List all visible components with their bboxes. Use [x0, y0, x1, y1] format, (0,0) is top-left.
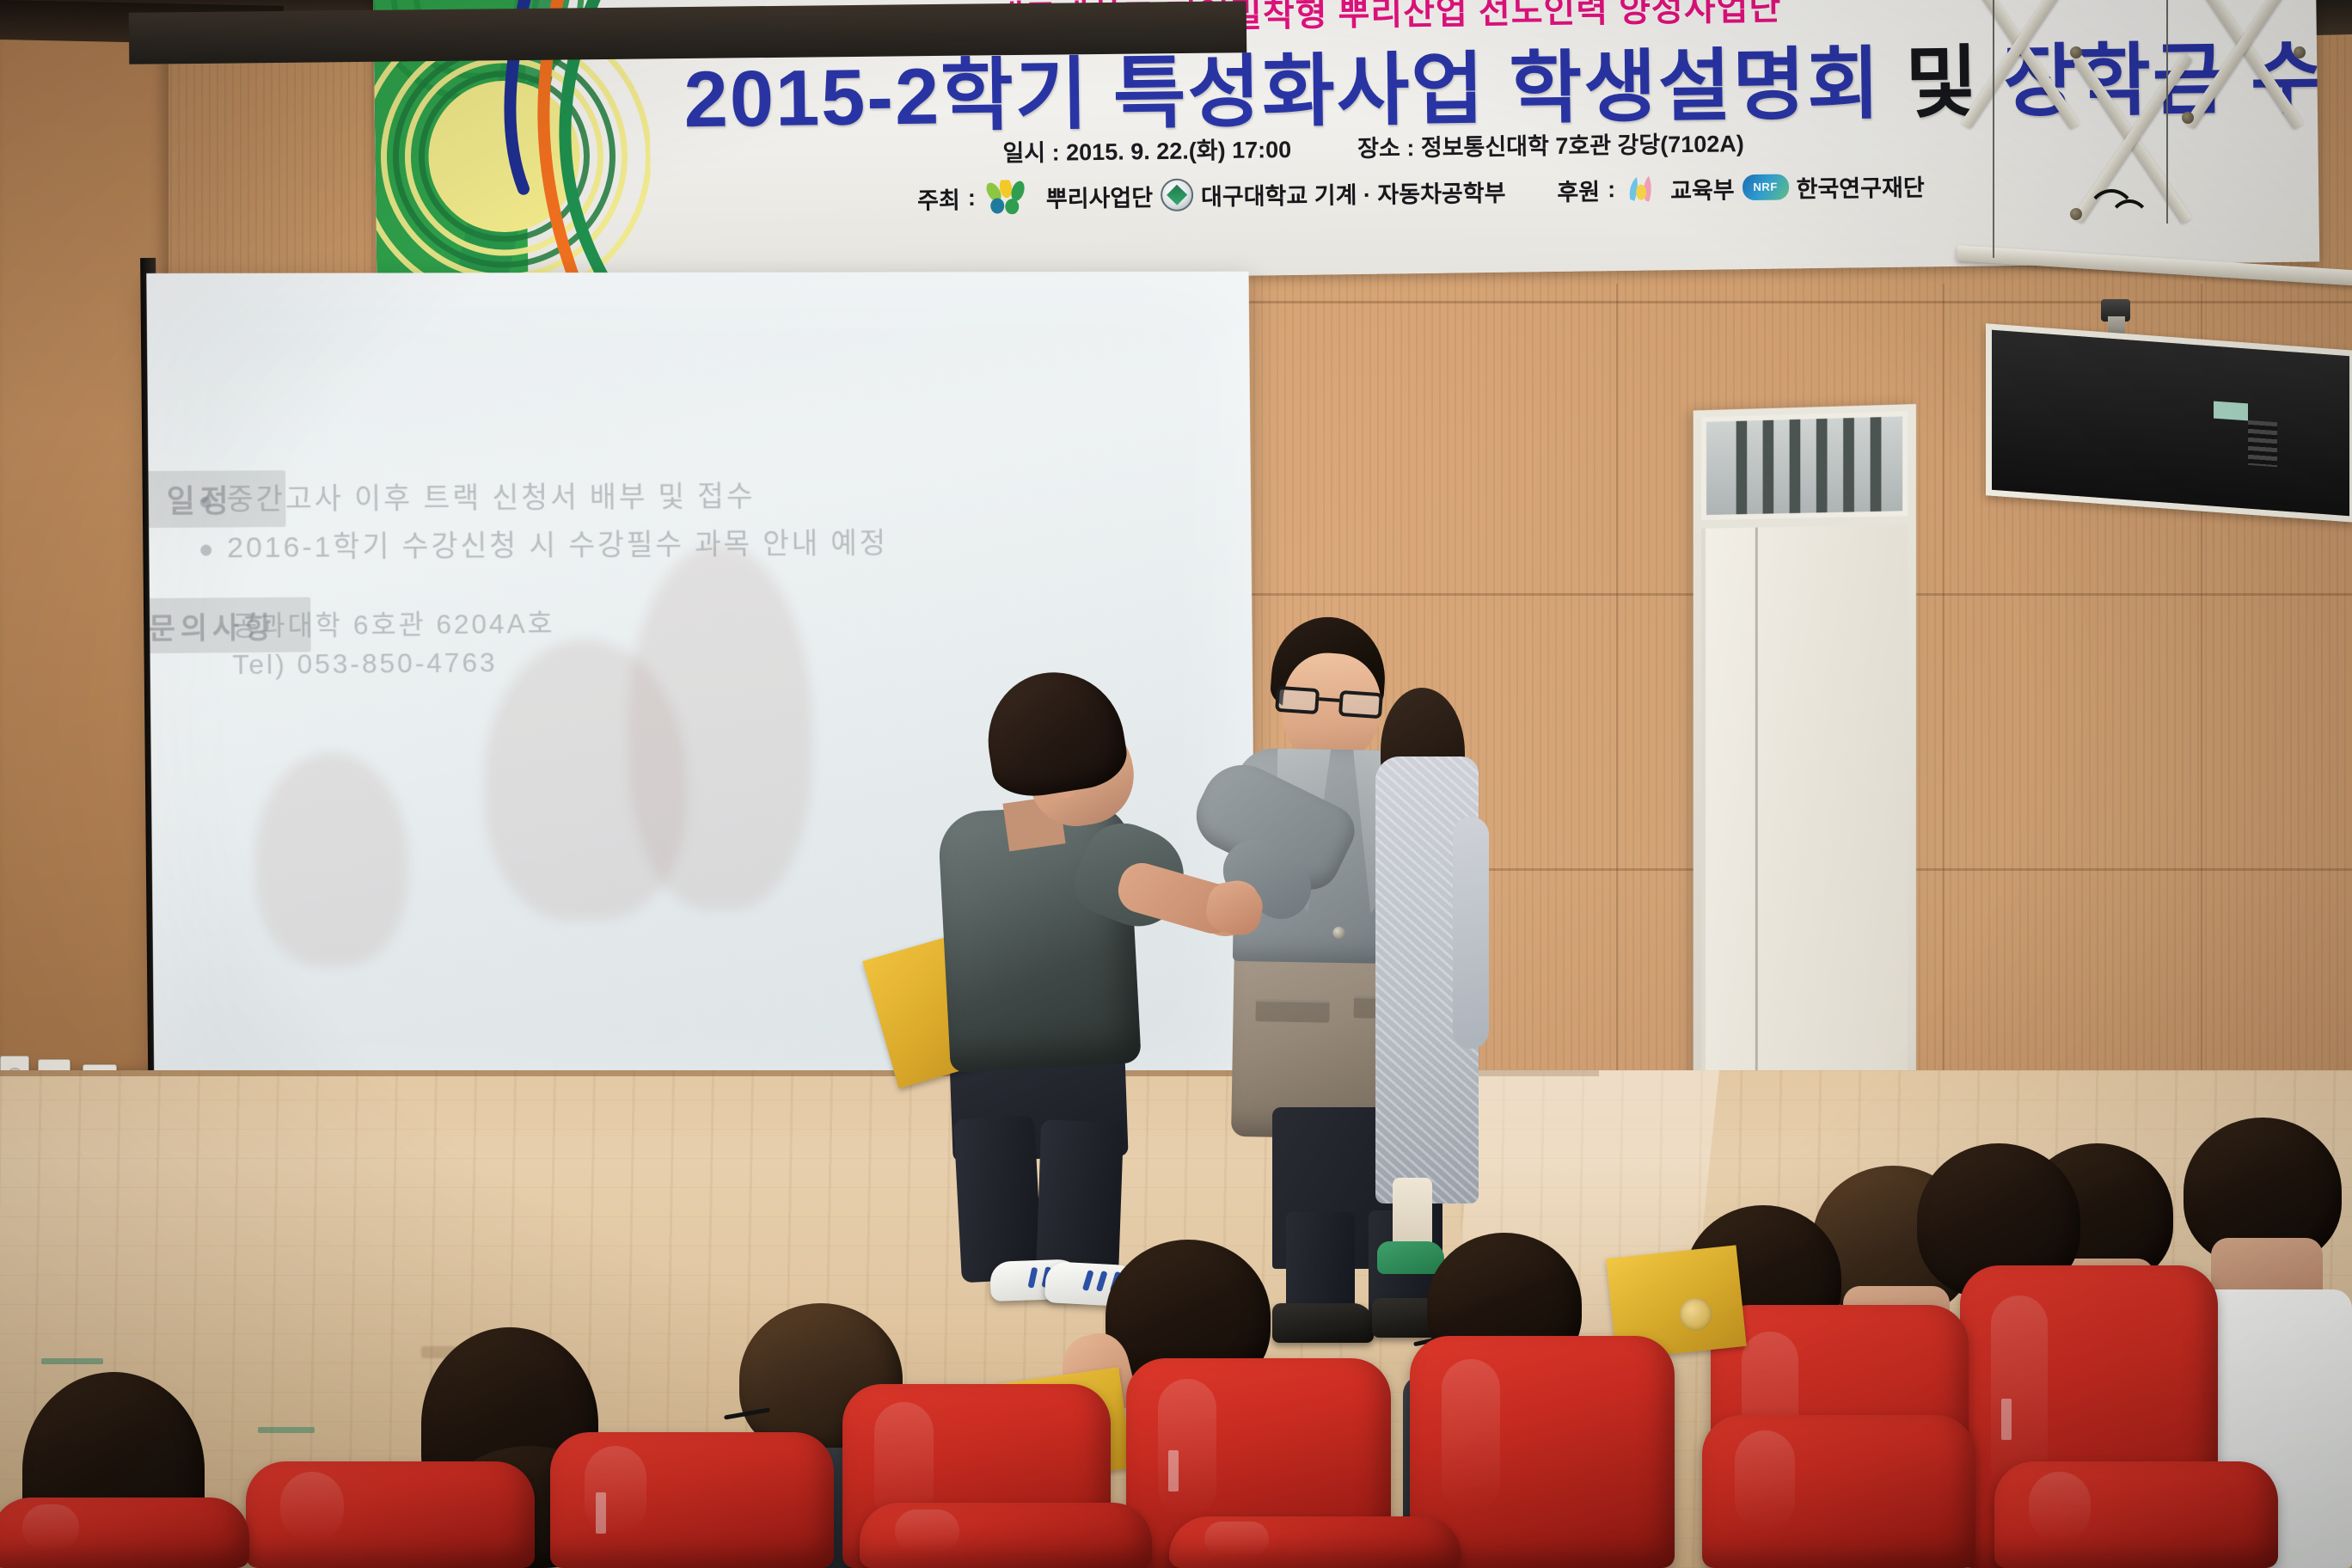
- assistant-arm: [1453, 817, 1489, 1049]
- seat[interactable]: [246, 1461, 535, 1568]
- sponsor-label: 후원: [1557, 173, 1600, 207]
- jacket-pocket: [1255, 999, 1329, 1022]
- suspension-wire: [1993, 0, 1994, 258]
- assistant-shoe: [1377, 1241, 1444, 1274]
- projector-shelf-frame: [1986, 323, 2352, 523]
- seat[interactable]: [1169, 1516, 1461, 1568]
- root-industry-logo-icon: [983, 180, 1039, 215]
- banner-host-line: 주최: 뿌리사업단 대구대학교 기계 · 자동차공학부 후원:: [917, 168, 1925, 215]
- bullet-icon: [200, 544, 211, 555]
- host-label: 주최: [917, 181, 960, 216]
- floor-marker-tape: [41, 1358, 103, 1364]
- moe-logo-icon: [1623, 173, 1663, 205]
- place-label: 장소: [1357, 135, 1400, 162]
- truss-node: [2070, 46, 2082, 58]
- sponsor-org-2: 한국연구재단: [1796, 168, 1925, 204]
- screen-shadow: [254, 752, 409, 968]
- door-panel[interactable]: [1701, 524, 1908, 1126]
- door-seam: [1755, 528, 1758, 1122]
- floor-marker-tape: [258, 1427, 315, 1433]
- student-leg: [1036, 1119, 1124, 1282]
- seat[interactable]: [860, 1503, 1152, 1568]
- suspension-wire: [2166, 0, 2168, 224]
- scene-root: 대구대학교 지역밀착형 뿌리산업 선도인력 양성사업단 2015-2학기 특성화…: [0, 0, 2352, 1568]
- date-value: 2015. 9. 22.(화) 17:00: [1066, 137, 1291, 165]
- seat[interactable]: [0, 1498, 249, 1568]
- side-door[interactable]: [1694, 404, 1916, 1135]
- date-label: 일시: [1002, 140, 1045, 167]
- seat[interactable]: [550, 1432, 834, 1568]
- truss-base-beam: [1957, 245, 2352, 285]
- student-leg: [953, 1116, 1043, 1283]
- truss-node: [2070, 208, 2082, 220]
- equipment-vent-grill: [2248, 420, 2277, 467]
- sponsor-org-1: 교육부: [1670, 171, 1735, 205]
- seal-icon: [1678, 1296, 1714, 1332]
- slide-bullet-item: 중간고사 이후 트랙 신청서 배부 및 접수: [199, 473, 755, 518]
- transom-window: [1701, 411, 1908, 520]
- university-seal-icon: [1161, 179, 1193, 211]
- slide-contact-phone: Tel) 053-850-4763: [232, 646, 497, 681]
- seat[interactable]: [1994, 1461, 2278, 1568]
- host-org-1: 뿌리사업단: [1046, 179, 1154, 214]
- host-org-2: 대구대학교 기계 · 자동차공학부: [1201, 174, 1506, 211]
- equipment-label: [2214, 401, 2248, 421]
- wall-seam: [1943, 284, 1945, 1083]
- truss-node: [2294, 46, 2306, 58]
- nrf-logo-icon: NRF: [1742, 174, 1788, 200]
- truss-node: [2182, 112, 2194, 124]
- jacket-button: [1332, 927, 1344, 939]
- slide-bullet-item: 2016-1학기 수강신청 시 수강필수 과목 안내 예정: [200, 520, 888, 567]
- projector-unit: [1992, 330, 2349, 517]
- cable-coil: [2108, 199, 2151, 249]
- professor-shoe: [1272, 1303, 1374, 1343]
- bullet-icon: [200, 496, 211, 507]
- place-value: 정보통신대학 7호관 강당(7102A): [1421, 131, 1744, 161]
- slide-contact-address: 공과대학 6호관 6204A호: [232, 602, 555, 644]
- scissor-lift-truss: [1957, 0, 2352, 335]
- seat[interactable]: [1702, 1415, 1975, 1568]
- wall-seam: [1616, 284, 1618, 1083]
- screen-shadow: [626, 544, 814, 912]
